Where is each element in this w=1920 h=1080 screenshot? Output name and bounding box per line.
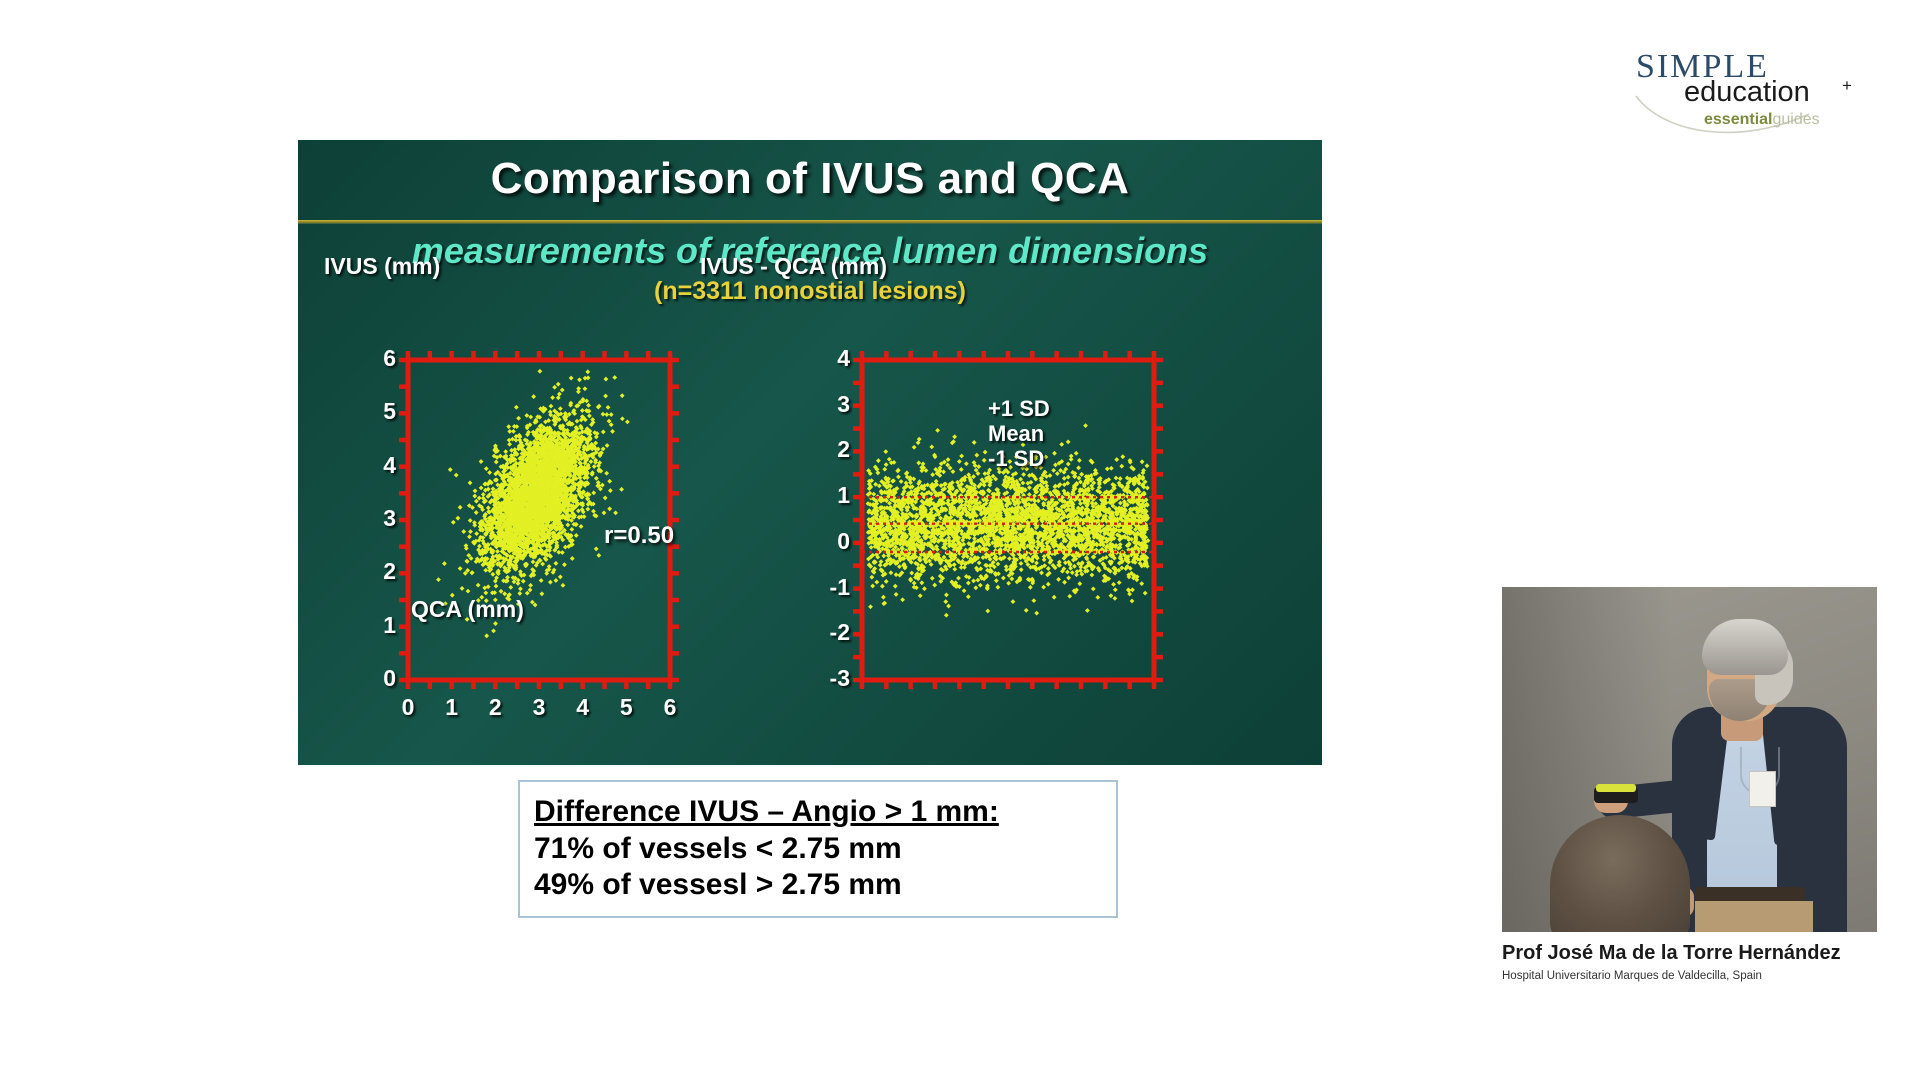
left-plot-x-tick: 5 — [606, 694, 646, 721]
logo-essential-text: essential — [1704, 111, 1772, 128]
speaker-name: Prof José Ma de la Torre Hernández — [1502, 942, 1892, 965]
reference-label-plus-1-sd: +1 SD — [988, 396, 1050, 422]
reference-label-minus-1-sd: -1 SD — [988, 446, 1044, 472]
left-plot-y-tick: 6 — [356, 345, 396, 372]
left-plot-y-tick: 4 — [356, 452, 396, 479]
left-plot-x-tick: 0 — [388, 694, 428, 721]
right-plot-y-tick: -1 — [808, 574, 850, 601]
slide-image: Comparison of IVUS and QCA measurements … — [298, 140, 1322, 765]
left-plot-x-tick: 2 — [475, 694, 515, 721]
callout-line-2: 71% of vessels < 2.75 mm — [534, 831, 1102, 868]
left-plot-x-tick: 3 — [519, 694, 559, 721]
right-plot-y-tick: 3 — [808, 391, 850, 418]
right-plot-y-tick: 4 — [808, 345, 850, 372]
left-plot-y-tick: 3 — [356, 505, 396, 532]
presentation-page: SIMPLE education + essentialguides Compa… — [0, 0, 1920, 1080]
speaker-trousers — [1695, 901, 1813, 932]
right-plot-y-tick: -3 — [808, 665, 850, 692]
simple-education-logo: SIMPLE education + essentialguides — [1636, 50, 1876, 145]
summary-callout-box: Difference IVUS – Angio > 1 mm: 71% of v… — [518, 780, 1118, 918]
logo-essentialguides-text: essentialguides — [1704, 112, 1820, 128]
left-plot-y-tick: 5 — [356, 398, 396, 425]
left-plot-y-tick: 2 — [356, 558, 396, 585]
logo-guides-text: guides — [1772, 111, 1819, 128]
right-plot-y-tick: 0 — [808, 528, 850, 555]
logo-education-text: education — [1684, 78, 1810, 107]
left-plot-y-tick: 0 — [356, 665, 396, 692]
reference-label-mean: Mean — [988, 421, 1044, 447]
right-plot-y-tick: 1 — [808, 482, 850, 509]
logo-plus-icon: + — [1842, 76, 1852, 96]
left-plot-x-tick: 1 — [432, 694, 472, 721]
presentation-clicker-button — [1596, 784, 1636, 792]
left-plot-x-tick: 6 — [650, 694, 690, 721]
right-plot-y-tick: -2 — [808, 619, 850, 646]
right-plot-y-tick: 2 — [808, 436, 850, 463]
callout-heading: Difference IVUS – Angio > 1 mm: — [534, 794, 1102, 831]
speaker-affiliation: Hospital Universitario Marques de Valdec… — [1502, 970, 1902, 982]
speaker-hair — [1702, 619, 1788, 675]
left-plot-y-tick: 1 — [356, 612, 396, 639]
speaker-name-badge — [1749, 771, 1776, 807]
left-plot-x-tick: 4 — [563, 694, 603, 721]
callout-line-3: 49% of vessesl > 2.75 mm — [534, 867, 1102, 904]
speaker-video-thumbnail[interactable] — [1502, 587, 1877, 932]
